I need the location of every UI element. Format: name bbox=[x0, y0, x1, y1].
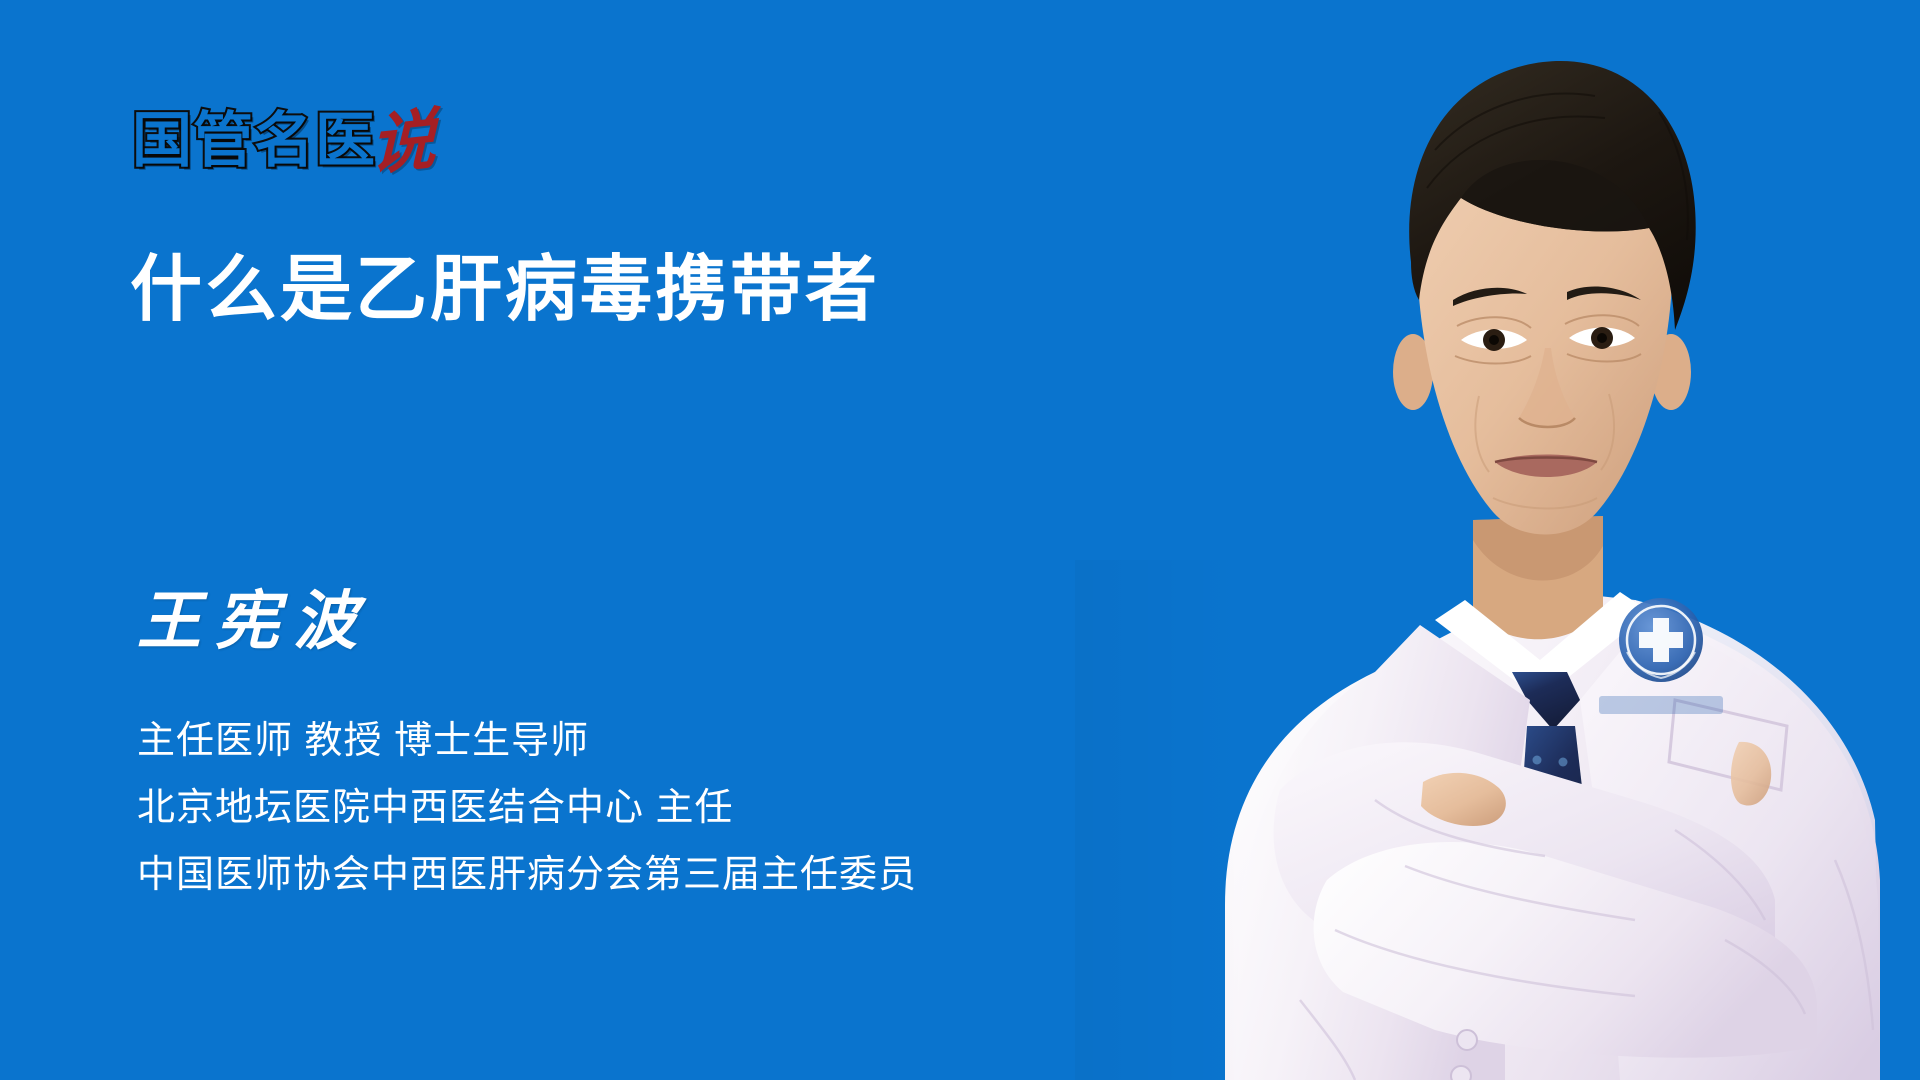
slide-canvas: 国管名医 说 什么是乙肝病毒携带者 王宪波 主任医师 教授 博士生导师 北京地坛… bbox=[0, 0, 1920, 1080]
coat-button bbox=[1457, 1030, 1477, 1050]
doctor-portrait-image bbox=[1075, 0, 1920, 1080]
credential-line: 主任医师 教授 博士生导师 bbox=[137, 718, 917, 764]
speaker-name: 王宪波 bbox=[137, 584, 371, 660]
brand-logo: 国管名医 说 bbox=[132, 103, 436, 175]
eye-left-pupil bbox=[1489, 335, 1499, 345]
credential-line: 北京地坛医院中西医结合中心 主任 bbox=[137, 785, 917, 831]
eye-right-pupil bbox=[1597, 333, 1607, 343]
portrait-edge-shadow bbox=[1075, 560, 1245, 1080]
badge-caption bbox=[1599, 696, 1723, 714]
coat-button bbox=[1451, 1066, 1471, 1080]
brand-logo-main-text: 国管名医 bbox=[132, 107, 376, 175]
brand-logo-accent-text: 说 bbox=[370, 109, 436, 178]
speaker-credentials: 主任医师 教授 博士生导师 北京地坛医院中西医结合中心 主任 中国医师协会中西医… bbox=[137, 718, 917, 898]
hospital-badge bbox=[1619, 598, 1703, 682]
credential-line: 中国医师协会中西医肝病分会第三届主任委员 bbox=[137, 852, 917, 898]
page-title: 什么是乙肝病毒携带者 bbox=[130, 247, 880, 333]
